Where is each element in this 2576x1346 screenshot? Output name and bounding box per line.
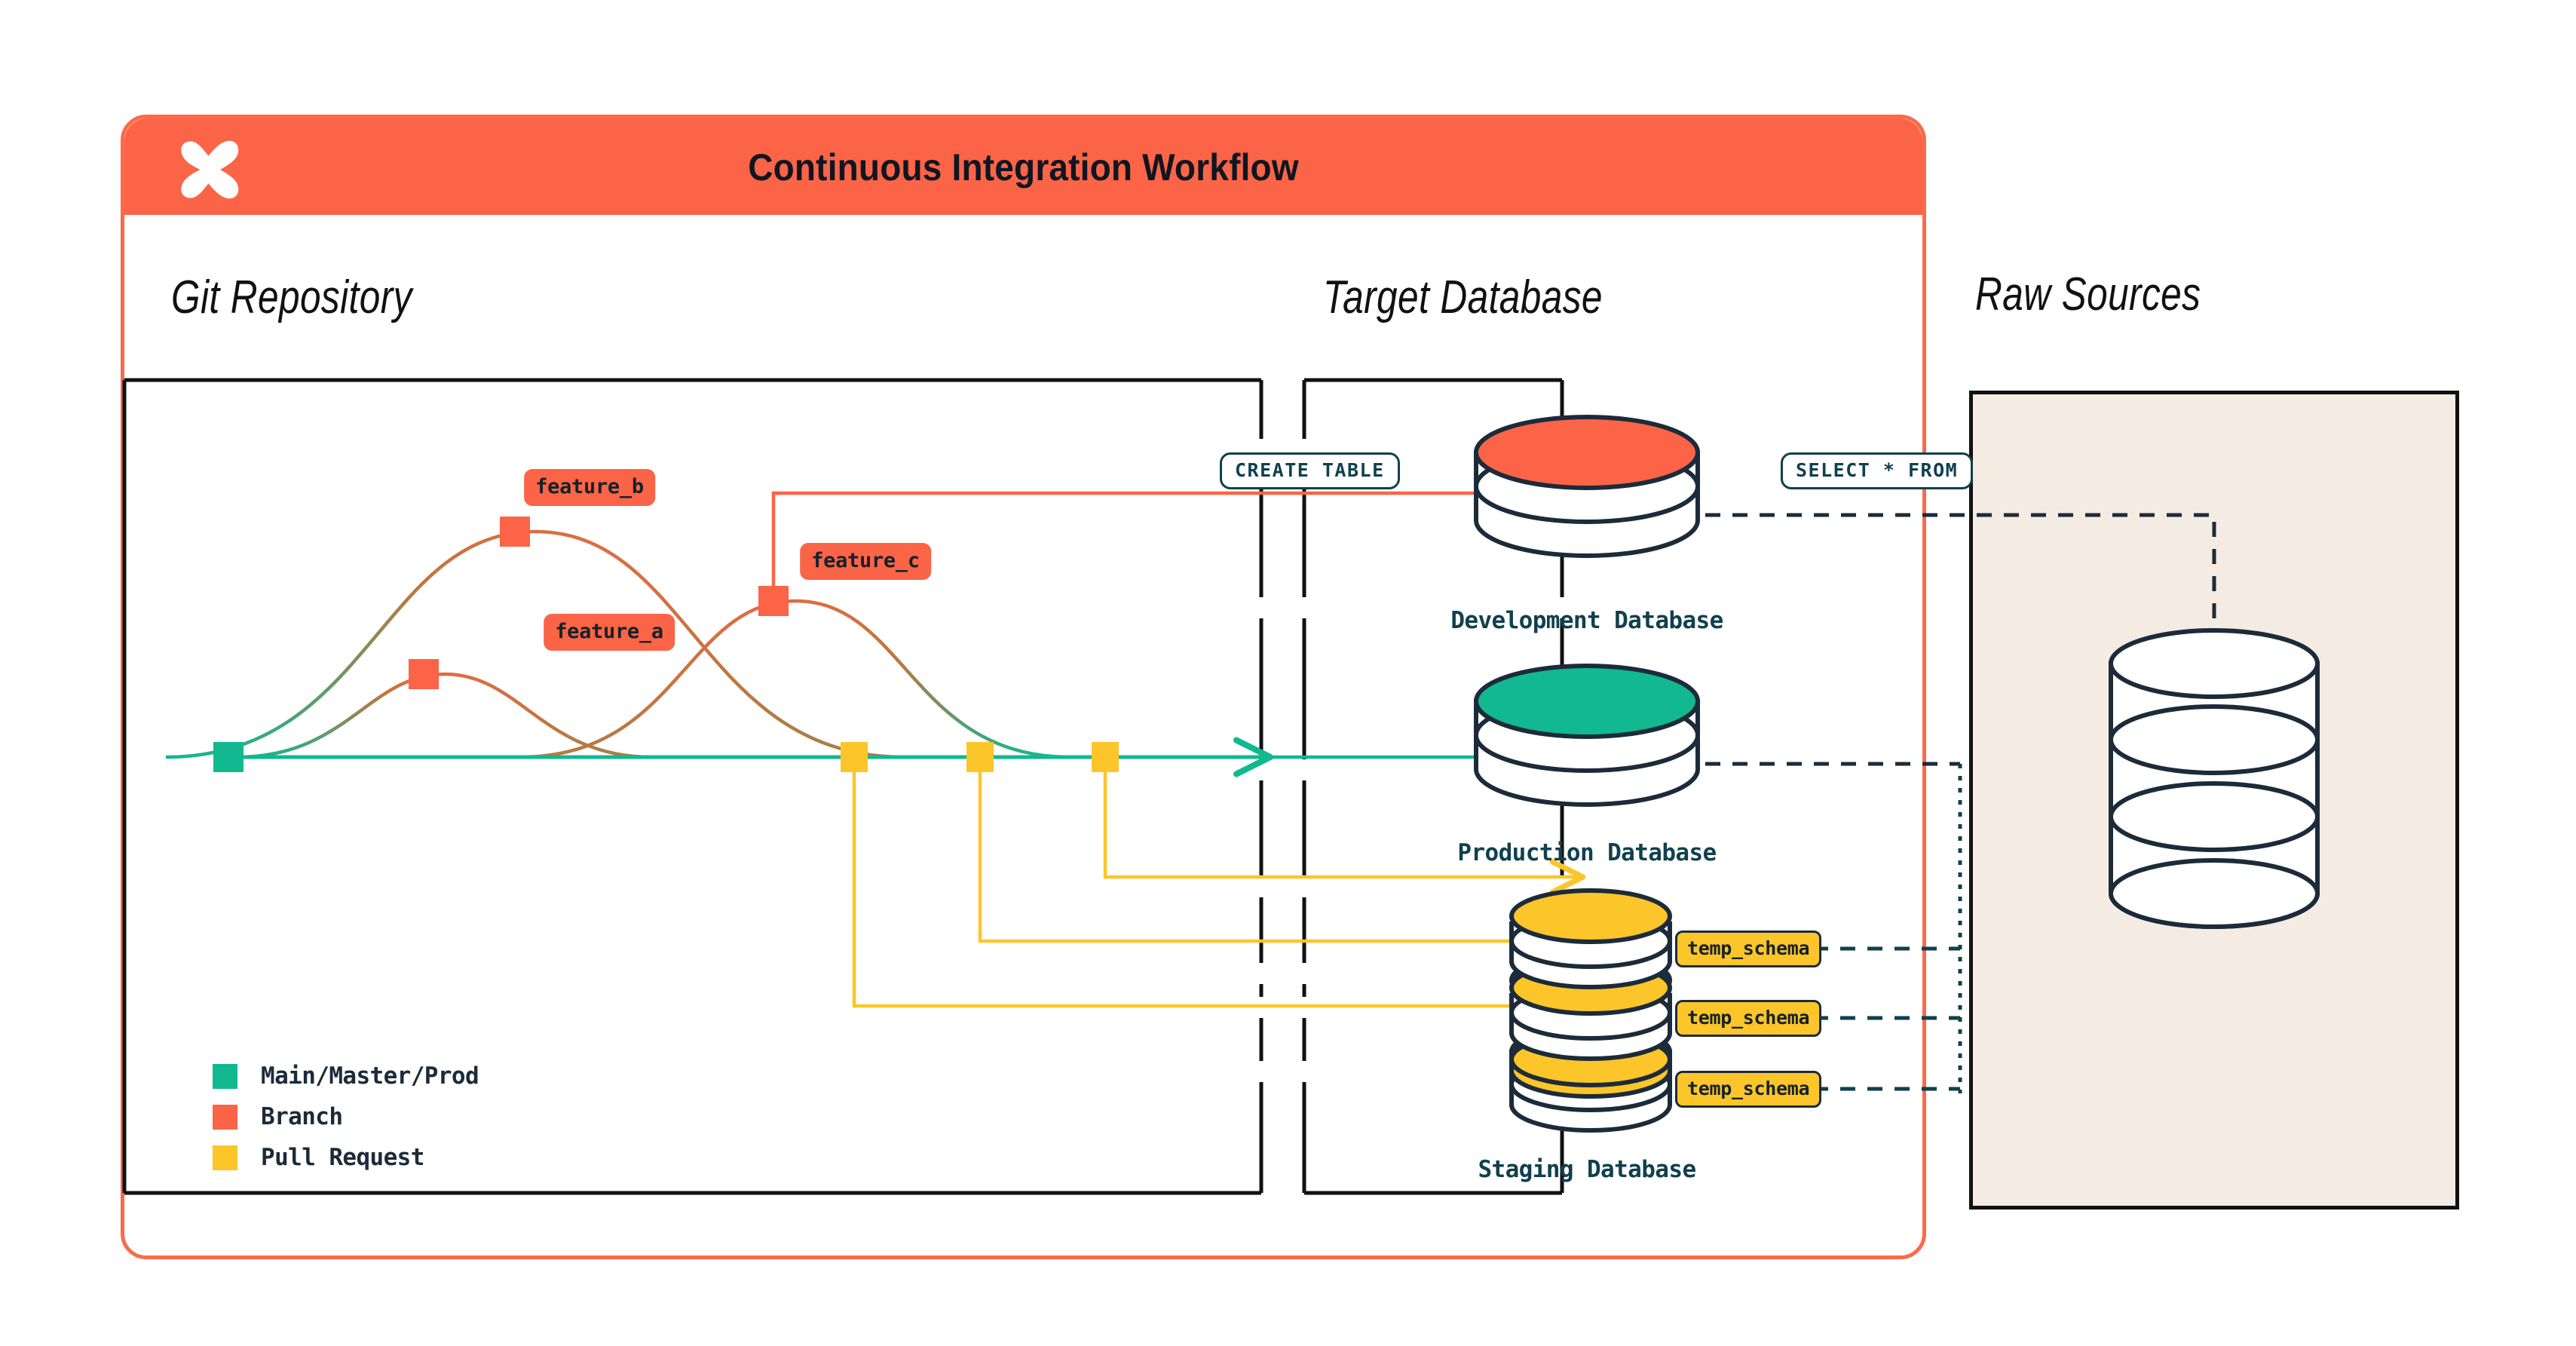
branch-label-feature-b[interactable]: feature_b — [524, 469, 655, 506]
legend-item-branch: Branch — [213, 1096, 479, 1137]
schema-badge-1[interactable]: temp_schema — [1675, 931, 1821, 967]
legend-label-branch: Branch — [261, 1103, 342, 1130]
legend-swatch-main — [213, 1064, 237, 1089]
sql-label-select-from[interactable]: SELECT * FROM — [1781, 452, 1973, 489]
schema-badge-2[interactable]: temp_schema — [1675, 1000, 1821, 1037]
db-caption-staging: Staging Database — [1478, 1156, 1695, 1183]
legend: Main/Master/Prod Branch Pull Request — [213, 1056, 479, 1178]
legend-label-pull-request: Pull Request — [261, 1144, 424, 1171]
database-raw-sources — [2111, 630, 2317, 927]
schema-badge-3[interactable]: temp_schema — [1675, 1071, 1821, 1108]
legend-swatch-branch — [213, 1105, 237, 1130]
database-staging — [1512, 891, 1670, 1130]
diagram-canvas: Continuous Integration Workflow Git Repo… — [0, 0, 2576, 1346]
legend-item-pull-request: Pull Request — [213, 1137, 479, 1178]
branch-label-feature-c[interactable]: feature_c — [800, 543, 931, 580]
db-caption-production: Production Database — [1457, 839, 1716, 866]
temp-schema-dashed-links — [1813, 764, 1960, 1093]
sql-label-create-table[interactable]: CREATE TABLE — [1220, 452, 1400, 489]
db-caption-development: Development Database — [1450, 607, 1723, 634]
legend-item-main: Main/Master/Prod — [213, 1056, 479, 1096]
database-production — [1476, 666, 1698, 805]
legend-swatch-pull-request — [213, 1145, 237, 1170]
database-development — [1476, 417, 1698, 556]
legend-label-main: Main/Master/Prod — [261, 1062, 479, 1090]
branch-label-feature-a[interactable]: feature_a — [544, 614, 675, 651]
